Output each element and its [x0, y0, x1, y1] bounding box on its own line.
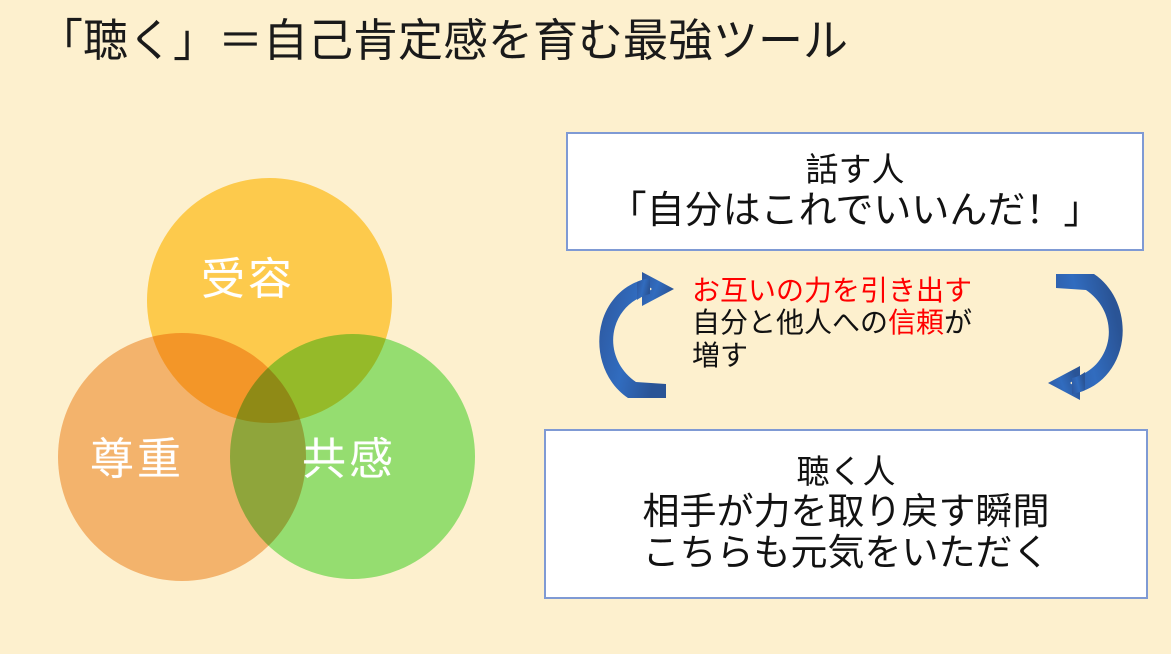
mutual-cycle-text: お互いの力を引き出す 自分と他人への信頼が 増す	[692, 275, 1022, 372]
speaker-callout-box: 話す人 「自分はこれでいいんだ！」	[566, 132, 1144, 251]
listener-line-energy: こちらも元気をいただく	[643, 532, 1050, 573]
listener-line-role: 聴く人	[797, 454, 896, 491]
cycle-trust-suffix: が	[944, 306, 972, 339]
listener-callout-box: 聴く人 相手が力を取り戻す瞬間 こちらも元気をいただく	[544, 429, 1148, 599]
curved-arrow-left-icon	[596, 272, 686, 400]
venn-label-acceptance: 受容	[201, 258, 295, 302]
speaker-line-role: 話す人	[806, 152, 905, 189]
curved-arrow-right-icon	[1036, 272, 1126, 400]
venn-diagram: 受容 尊重 共感	[55, 170, 485, 590]
cycle-line-draw-out: お互いの力を引き出す	[692, 275, 1022, 307]
venn-label-respect: 尊重	[90, 438, 184, 482]
listener-line-moment: 相手が力を取り戻す瞬間	[643, 491, 1050, 532]
slide-canvas: 「聴く」＝自己肯定感を育む最強ツール 受容 尊重 共感 話す人 「自分はこれでい…	[0, 0, 1171, 654]
venn-label-empathy: 共感	[302, 438, 396, 482]
speaker-line-quote: 「自分はこれでいいんだ！」	[609, 189, 1102, 232]
mutual-cycle-group: お互いの力を引き出す 自分と他人への信頼が 増す	[596, 272, 1126, 402]
cycle-trust-highlight: 信頼	[888, 306, 944, 339]
cycle-line-increase: 増す	[692, 340, 1022, 372]
cycle-line-trust: 自分と他人への信頼が	[692, 307, 1022, 339]
page-title: 「聴く」＝自己肯定感を育む最強ツール	[38, 14, 848, 68]
cycle-trust-prefix: 自分と他人への	[692, 306, 888, 339]
